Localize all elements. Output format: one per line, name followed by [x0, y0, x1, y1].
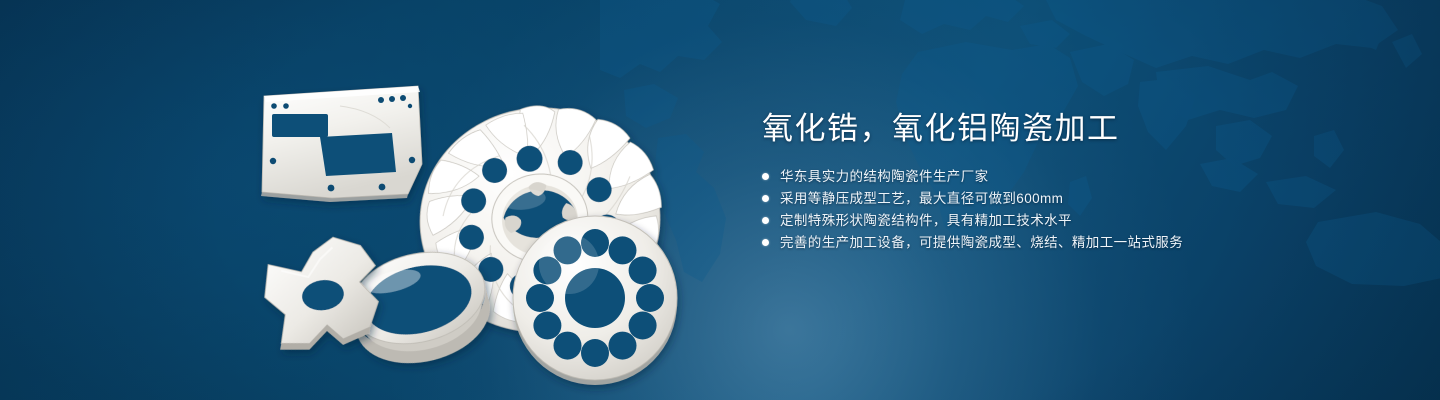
list-item: 采用等静压成型工艺，最大直径可做到600mm: [762, 190, 1382, 207]
bullet-dot-icon: [762, 217, 769, 224]
list-item: 华东具实力的结构陶瓷件生产厂家: [762, 168, 1382, 185]
ceramic-perforated-disc: [513, 216, 677, 385]
hero-banner: 氧化锆，氧化铝陶瓷加工 华东具实力的结构陶瓷件生产厂家 采用等静压成型工艺，最大…: [0, 0, 1440, 400]
page-title: 氧化锆，氧化铝陶瓷加工: [762, 108, 1382, 150]
product-photo-group: [240, 40, 710, 380]
feature-text: 采用等静压成型工艺，最大直径可做到600mm: [780, 190, 1063, 207]
banner-copy: 氧化锆，氧化铝陶瓷加工 华东具实力的结构陶瓷件生产厂家 采用等静压成型工艺，最大…: [762, 108, 1382, 256]
list-item: 完善的生产加工设备，可提供陶瓷成型、烧结、精加工一站式服务: [762, 234, 1382, 251]
feature-text: 华东具实力的结构陶瓷件生产厂家: [780, 168, 989, 185]
bullet-dot-icon: [762, 173, 769, 180]
list-item: 定制特殊形状陶瓷结构件，具有精加工技术水平: [762, 212, 1382, 229]
feature-text: 完善的生产加工设备，可提供陶瓷成型、烧结、精加工一站式服务: [780, 234, 1183, 251]
bullet-dot-icon: [762, 239, 769, 246]
feature-text: 定制特殊形状陶瓷结构件，具有精加工技术水平: [780, 212, 1072, 229]
ceramic-cross-plate: [258, 232, 386, 355]
feature-list: 华东具实力的结构陶瓷件生产厂家 采用等静压成型工艺，最大直径可做到600mm 定…: [762, 168, 1382, 251]
bullet-dot-icon: [762, 195, 769, 202]
ceramic-plate: [261, 86, 422, 202]
